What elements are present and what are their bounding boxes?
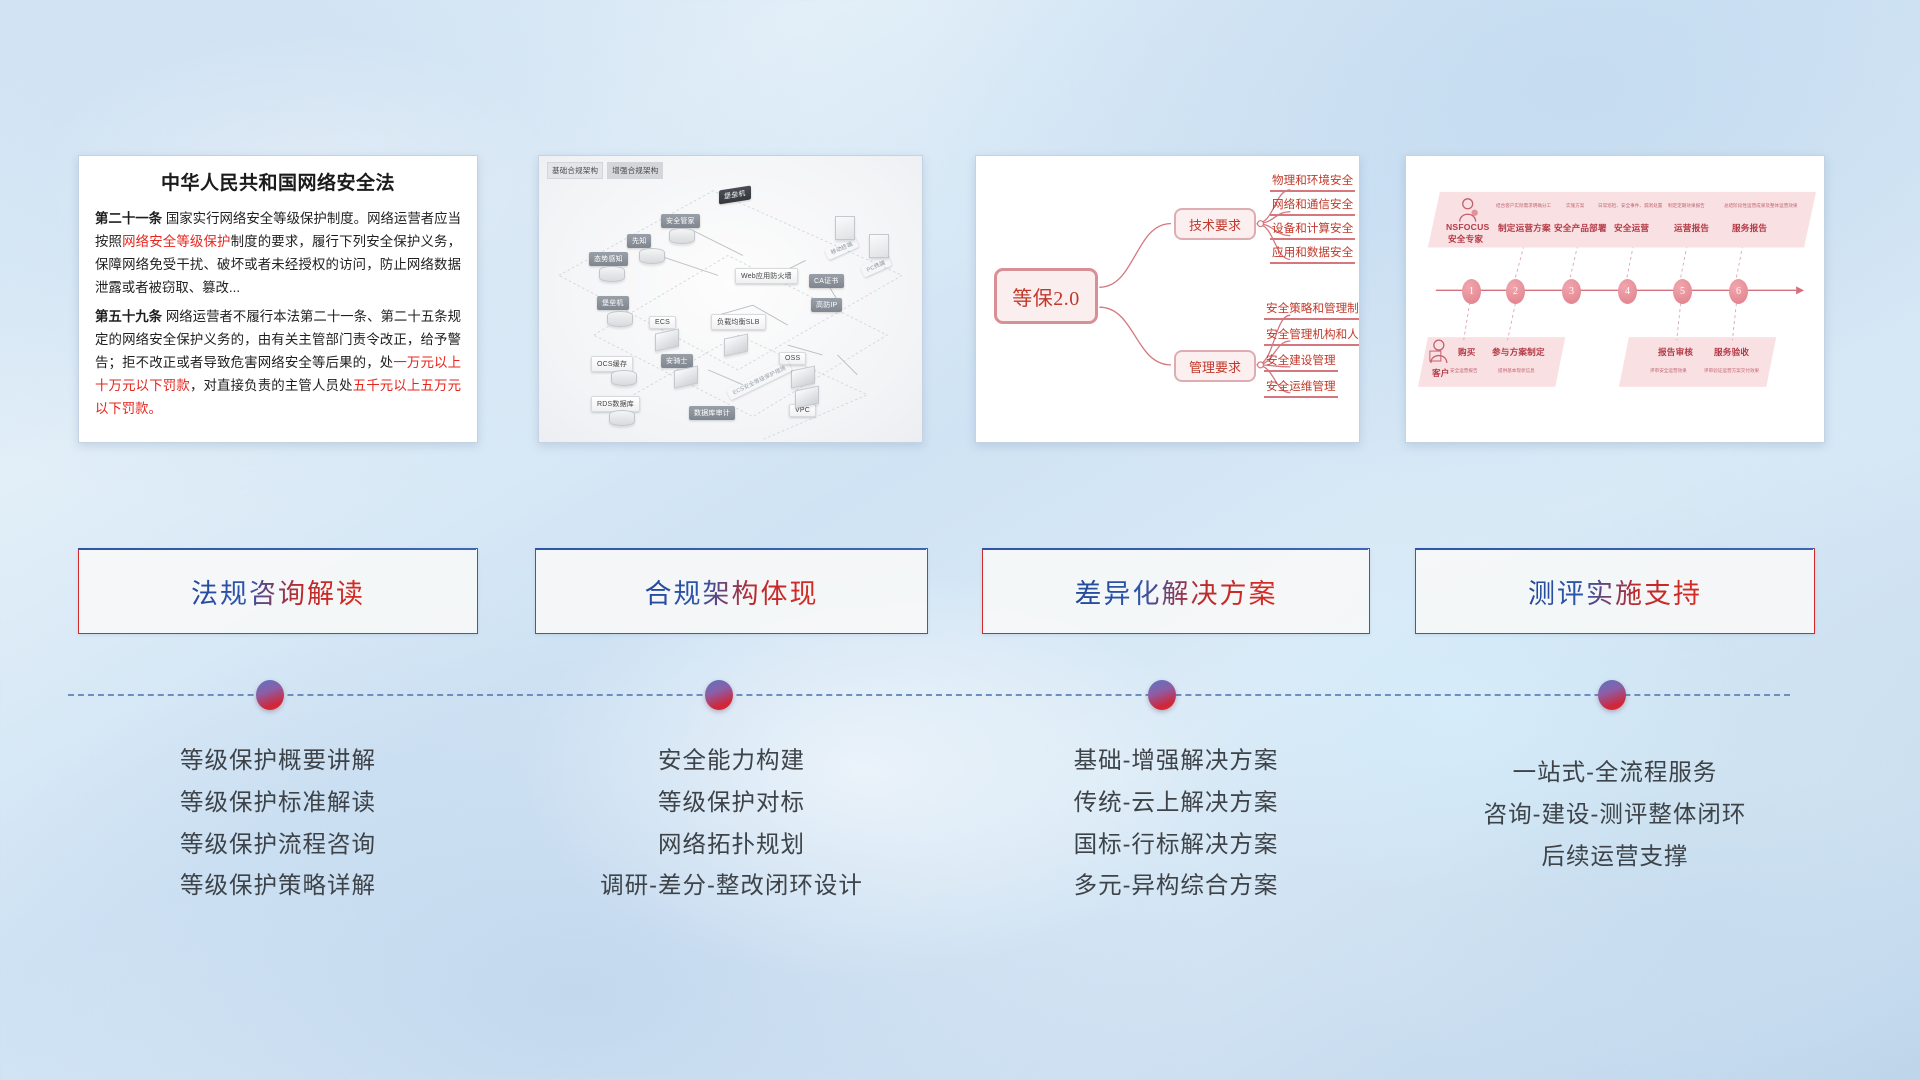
heading-box-differentiated-solution[interactable]: 差异化解决方案	[982, 548, 1370, 634]
timeline-expert-role: 安全专家	[1448, 233, 1483, 245]
heading-box-compliance-architecture[interactable]: 合规架构体现	[535, 548, 928, 634]
law-article-21: 第二十一条 国家实行网络安全等级保护制度。网络运营者应当按照网络安全等级保护制度…	[95, 207, 461, 299]
heading-label-3: 差异化解决方案	[1075, 572, 1278, 611]
timeline-top-sub-3: 日常巡检、安全事件、漏洞处置	[1598, 203, 1662, 209]
node-anqishi: 安骑士	[661, 354, 693, 368]
timeline-bottom-sub-2: 提供基本现状信息	[1498, 368, 1535, 374]
timeline-top-title-5: 服务报告	[1732, 222, 1767, 234]
node-anti-ddos-ip: 高防IP	[811, 298, 842, 312]
timeline-node-5: 5	[1673, 279, 1692, 304]
law-document: 中华人民共和国网络安全法 第二十一条 国家实行网络安全等级保护制度。网络运营者应…	[79, 156, 477, 420]
timeline-top-sub-2: 实施方案	[1566, 203, 1584, 209]
list-item: 后续运营支撑	[1405, 836, 1825, 878]
list-item: 等级保护概要讲解	[78, 740, 478, 782]
mindmap-branch-management: 管理要求	[1174, 350, 1256, 382]
list-item: 等级保护对标	[535, 782, 928, 824]
law-article-59: 第五十九条 网络运营者不履行本法第二十一条、第二十五条规定的网络安全保护义务的，…	[95, 305, 461, 420]
node-xianzhi: 先知	[627, 234, 651, 248]
law-article-59-label: 第五十九条	[95, 309, 162, 324]
node-bastion-host: 堡垒机	[597, 296, 629, 310]
mindmap-branch-technical: 技术要求	[1174, 208, 1256, 240]
timeline-expert-name: NSFOCUS	[1446, 222, 1489, 232]
heading-label-4: 测评实施支持	[1528, 572, 1702, 611]
timeline-node-4: 4	[1618, 279, 1637, 304]
law-article-21-highlight: 网络安全等级保护	[122, 234, 231, 249]
list-item: 网络拓扑规划	[535, 824, 928, 866]
timeline-top-title-2: 安全产品部署	[1554, 222, 1607, 234]
timeline-bottom-title-1: 购买	[1458, 346, 1476, 358]
timeline-top-title-3: 安全运营	[1614, 222, 1649, 234]
timeline-bottom-title-3: 报告审核	[1658, 346, 1693, 358]
architecture-diagram: 基础合规架构 增强合规架构	[539, 156, 922, 442]
slide-canvas: 中华人民共和国网络安全法 第二十一条 国家实行网络安全等级保护制度。网络运营者应…	[0, 0, 1920, 1080]
feature-list-differentiated-solution: 基础-增强解决方案 传统-云上解决方案 国标-行标解决方案 多元-异构综合方案	[982, 740, 1370, 907]
timeline-top-sub-5: 总结阶段性运营成果及整体运营效果	[1724, 203, 1798, 209]
timeline-marker-3	[1148, 680, 1176, 710]
heading-label-1: 法规咨询解读	[191, 572, 365, 611]
card-cybersecurity-law: 中华人民共和国网络安全法 第二十一条 国家实行网络安全等级保护制度。网络运营者应…	[78, 155, 478, 443]
law-article-59-text-b: ，对直接负责的主管人员处	[190, 378, 353, 393]
feature-list-assessment-support: 一站式-全流程服务 咨询-建设-测评整体闭环 后续运营支撑	[1405, 752, 1825, 877]
list-item: 多元-异构综合方案	[982, 865, 1370, 907]
mindmap-leaf-policy-system: 安全策略和管理制度	[1264, 300, 1360, 320]
timeline-bottom-sub-4: 评审验证运营方案交付效果	[1704, 368, 1759, 374]
timeline-node-2: 2	[1506, 279, 1525, 304]
list-item: 传统-云上解决方案	[982, 782, 1370, 824]
timeline-node-1: 1	[1462, 279, 1481, 304]
mindmap-leaf-org-personnel: 安全管理机构和人员	[1264, 326, 1360, 346]
law-article-21-label: 第二十一条	[95, 211, 162, 226]
card-mindmap-dengbao: 等保2.0 技术要求 管理要求 物理和环境安全 网络和通信安全 设备和计算安全 …	[975, 155, 1360, 443]
timeline-bottom-title-4: 服务验收	[1714, 346, 1749, 358]
timeline-node-3: 3	[1562, 279, 1581, 304]
card-cloud-architecture: 基础合规架构 增强合规架构	[538, 155, 923, 443]
timeline-top-sub-1: 结合客户实际需求明确分工	[1496, 203, 1551, 209]
list-item: 等级保护流程咨询	[78, 824, 478, 866]
node-waf: Web应用防火墙	[735, 268, 798, 284]
mindmap: 等保2.0 技术要求 管理要求 物理和环境安全 网络和通信安全 设备和计算安全 …	[976, 156, 1359, 442]
list-item: 调研-差分-整改闭环设计	[535, 865, 928, 907]
timeline-bottom-sub-3: 评审安全运营效果	[1650, 368, 1687, 374]
timeline-top-sub-4: 制定定期效果报告	[1668, 203, 1705, 209]
timeline-marker-4	[1598, 680, 1626, 710]
list-item: 一站式-全流程服务	[1405, 752, 1825, 794]
mindmap-leaf-app-data: 应用和数据安全	[1270, 244, 1355, 264]
list-item: 国标-行标解决方案	[982, 824, 1370, 866]
card-service-timeline: NSFOCUS 安全专家 客户 结合客户实际需求明确分工 制定运营方案 实施方案…	[1405, 155, 1825, 443]
mindmap-leaf-ops-mgmt: 安全运维管理	[1264, 378, 1338, 398]
timeline-axis-line	[68, 694, 1790, 696]
timeline-marker-2	[705, 680, 733, 710]
timeline-marker-1	[256, 680, 284, 710]
timeline-top-title-1: 制定运营方案	[1498, 222, 1551, 234]
mindmap-leaf-construction-mgmt: 安全建设管理	[1264, 352, 1338, 372]
list-item: 安全能力构建	[535, 740, 928, 782]
law-title: 中华人民共和国网络安全法	[95, 168, 461, 195]
timeline-bottom-title-2: 参与方案制定	[1492, 346, 1545, 358]
list-item: 咨询-建设-测评整体闭环	[1405, 794, 1825, 836]
list-item: 等级保护标准解读	[78, 782, 478, 824]
list-item: 等级保护策略详解	[78, 865, 478, 907]
node-slb: 负载均衡SLB	[711, 314, 766, 330]
list-item: 基础-增强解决方案	[982, 740, 1370, 782]
service-timeline: NSFOCUS 安全专家 客户 结合客户实际需求明确分工 制定运营方案 实施方案…	[1406, 156, 1824, 442]
heading-box-assessment-support[interactable]: 测评实施支持	[1415, 548, 1815, 634]
timeline-customer-label: 客户	[1432, 367, 1450, 379]
timeline-top-title-4: 运营报告	[1674, 222, 1709, 234]
mindmap-leaf-network-comm: 网络和通信安全	[1270, 196, 1355, 216]
mindmap-leaf-device-compute: 设备和计算安全	[1270, 220, 1355, 240]
mindmap-root: 等保2.0	[994, 268, 1098, 324]
timeline-bottom-sub-1: 安全运营报告	[1450, 368, 1478, 374]
node-security-butler: 安全管家	[661, 214, 700, 228]
heading-box-regulation-consulting[interactable]: 法规咨询解读	[78, 548, 478, 634]
node-ecs: ECS	[649, 316, 676, 329]
timeline-node-6: 6	[1729, 279, 1748, 304]
feature-list-regulation-consulting: 等级保护概要讲解 等级保护标准解读 等级保护流程咨询 等级保护策略详解	[78, 740, 478, 907]
heading-label-2: 合规架构体现	[645, 572, 819, 611]
node-ca-cert: CA证书	[809, 274, 844, 288]
feature-list-compliance-architecture: 安全能力构建 等级保护对标 网络拓扑规划 调研-差分-整改闭环设计	[535, 740, 928, 907]
node-db-audit: 数据库审计	[689, 406, 735, 420]
mindmap-leaf-physical-env: 物理和环境安全	[1270, 172, 1355, 192]
node-situational-awareness: 态势感知	[589, 252, 628, 266]
